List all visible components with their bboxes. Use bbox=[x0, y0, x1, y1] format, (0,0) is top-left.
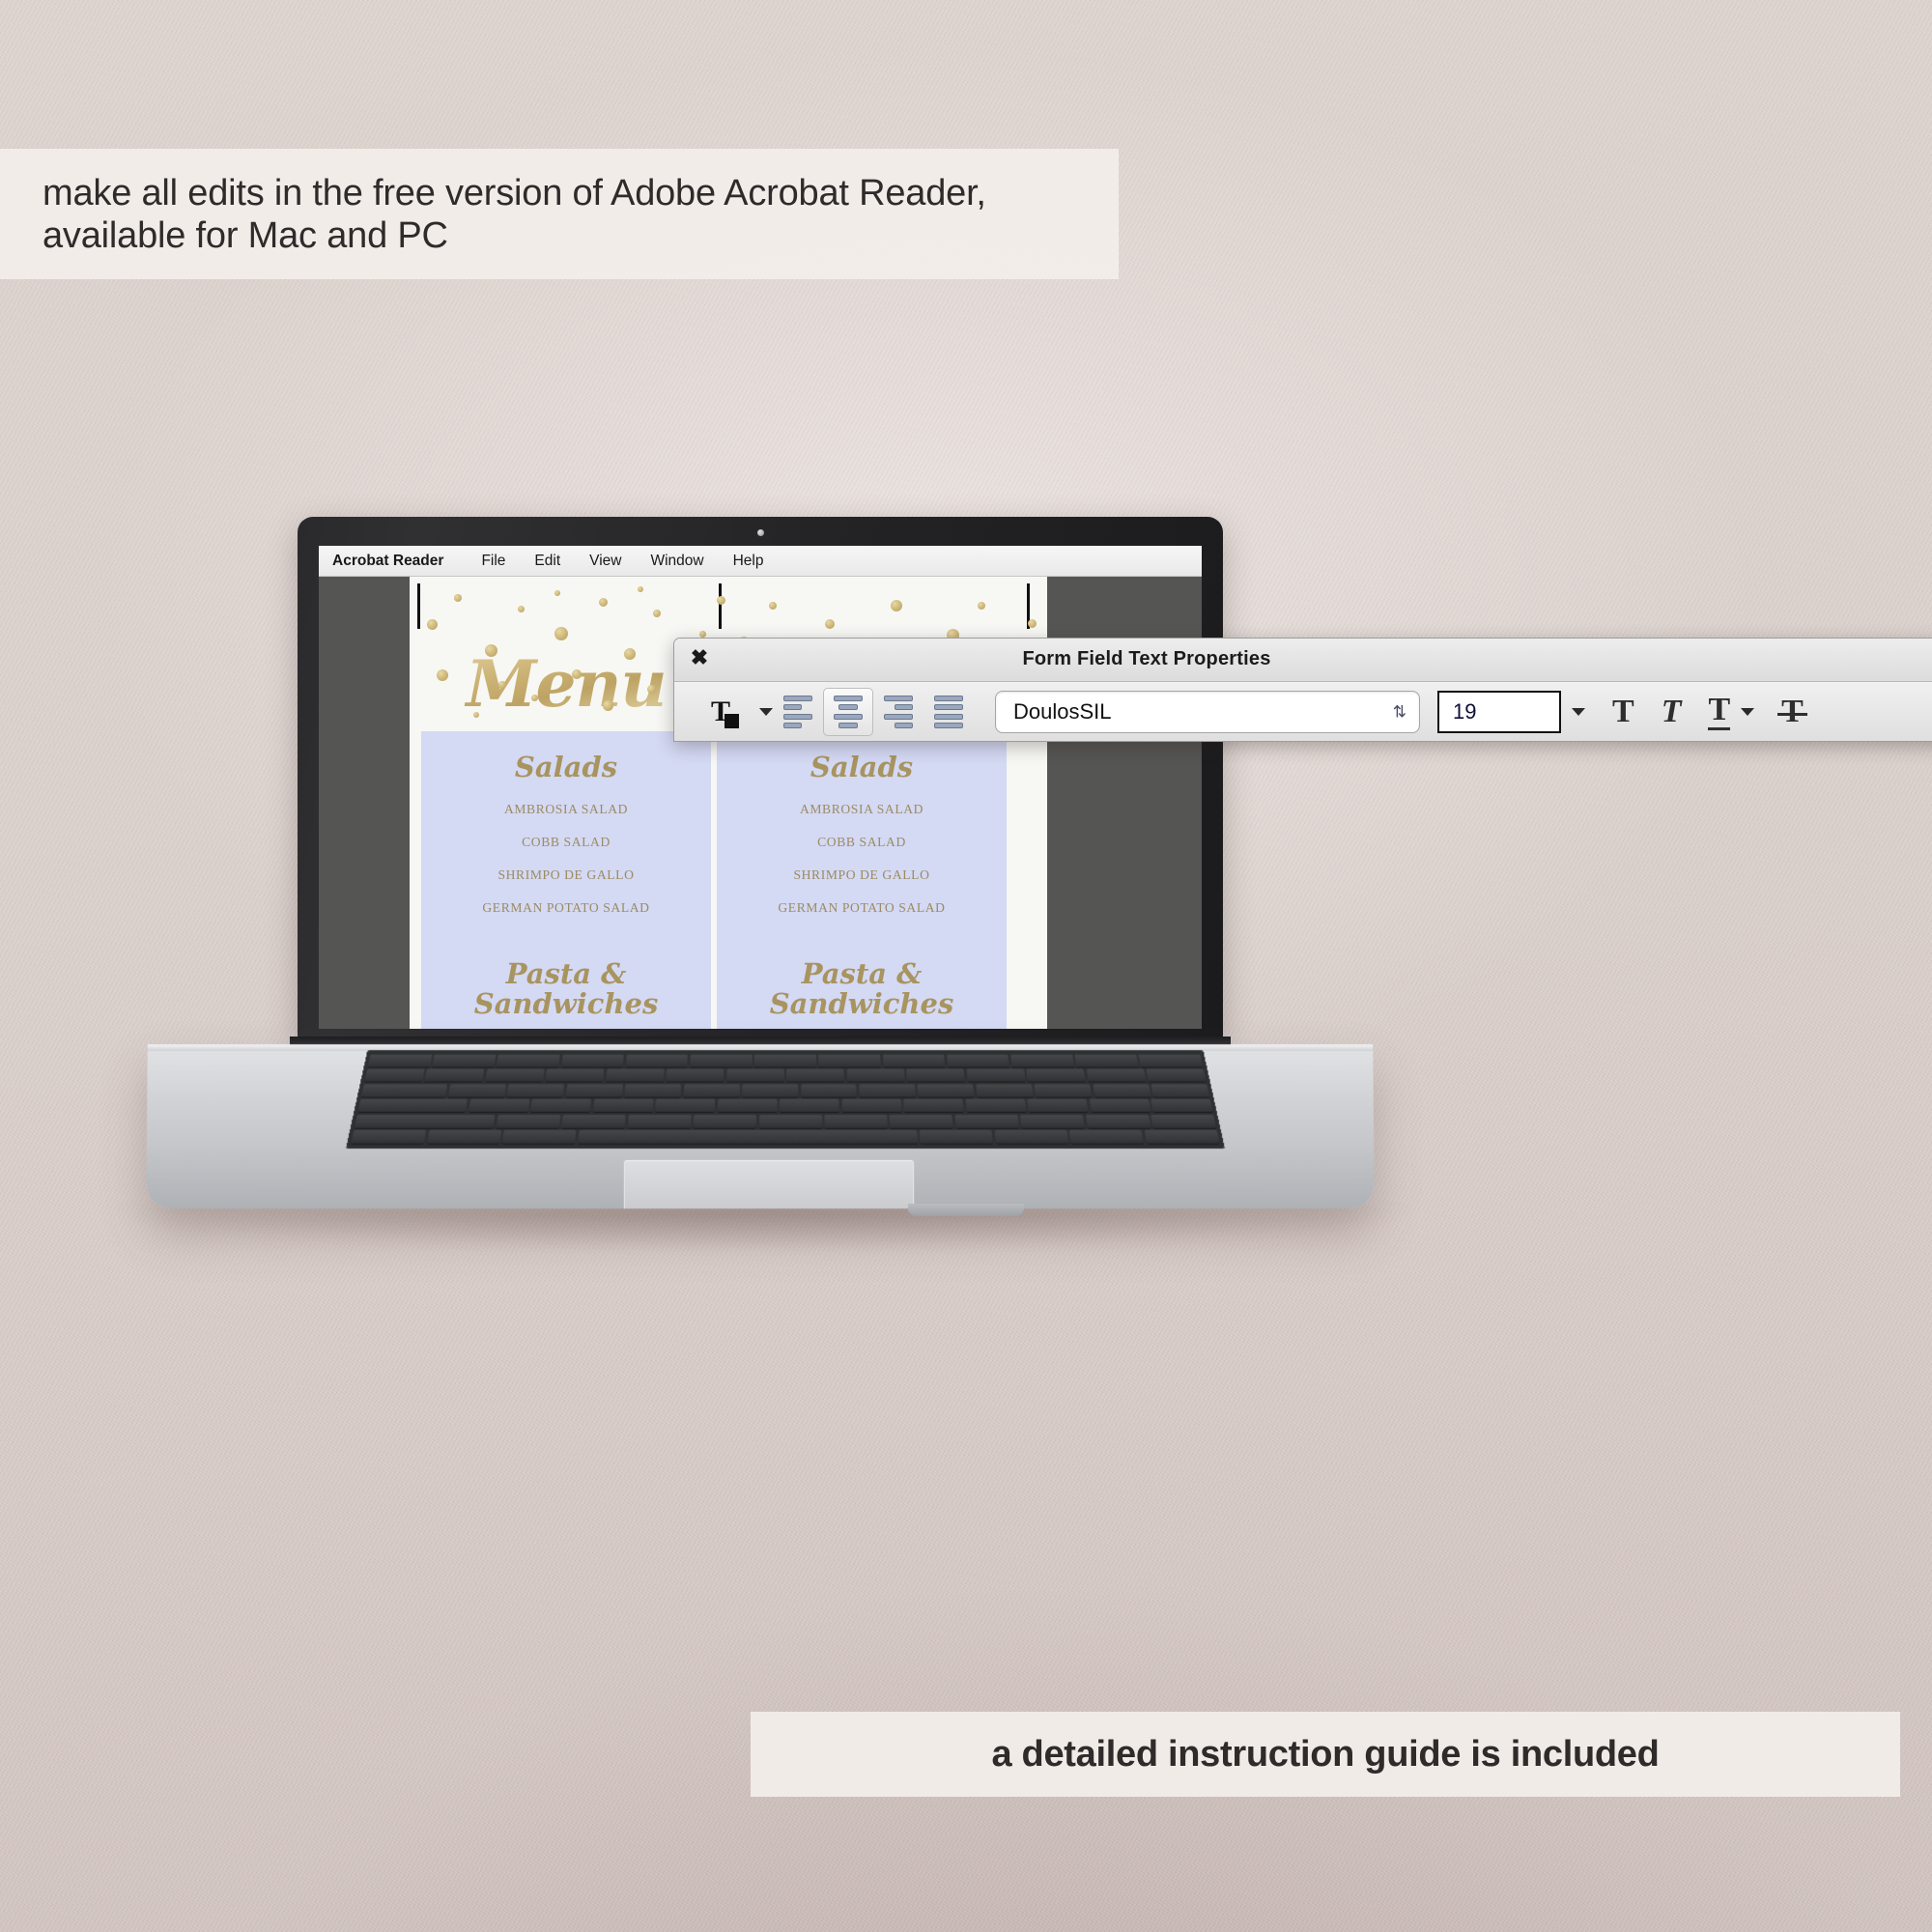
section-heading-pasta: Pasta & Sandwiches bbox=[728, 959, 995, 1018]
underline-button[interactable]: T bbox=[1708, 694, 1730, 730]
menu-panel: Salads AMBROSIA SALAD COBB SALAD SHRIMPO… bbox=[421, 731, 711, 1029]
confetti-dot bbox=[891, 600, 902, 611]
caption-bottom: a detailed instruction guide is included bbox=[751, 1712, 1900, 1797]
keyboard-key[interactable] bbox=[690, 1055, 752, 1067]
keyboard-key[interactable] bbox=[364, 1069, 424, 1082]
confetti-dot bbox=[825, 619, 835, 629]
keyboard[interactable] bbox=[346, 1050, 1225, 1149]
confetti-dot bbox=[624, 648, 636, 660]
keyboard-key[interactable] bbox=[1026, 1069, 1086, 1082]
keyboard-key[interactable] bbox=[1074, 1055, 1138, 1067]
laptop-mockup: Acrobat Reader File Edit View Window Hel… bbox=[0, 0, 1932, 1932]
keyboard-key[interactable] bbox=[1151, 1115, 1216, 1128]
confetti-dot bbox=[653, 610, 661, 617]
caption-top: make all edits in the free version of Ad… bbox=[0, 149, 1119, 279]
keyboard-key[interactable] bbox=[578, 1130, 918, 1144]
confetti-dot bbox=[454, 594, 462, 602]
keyboard-key[interactable] bbox=[1139, 1055, 1204, 1067]
base-notch bbox=[908, 1204, 1024, 1216]
keyboard-key[interactable] bbox=[426, 1130, 501, 1144]
keyboard-key[interactable] bbox=[1093, 1084, 1151, 1096]
keyboard-key[interactable] bbox=[497, 1055, 560, 1067]
keyboard-key[interactable] bbox=[1086, 1069, 1146, 1082]
keyboard-key[interactable] bbox=[717, 1099, 777, 1112]
align-justify-icon bbox=[934, 696, 963, 729]
keyboard-key[interactable] bbox=[561, 1115, 626, 1128]
align-left-button[interactable] bbox=[773, 688, 823, 736]
section-heading-salads: Salads bbox=[433, 753, 699, 781]
section-heading-salads: Salads bbox=[728, 753, 995, 781]
keyboard-key[interactable] bbox=[883, 1055, 946, 1067]
keyboard-row-asdf bbox=[357, 1099, 1212, 1112]
confetti-dot bbox=[572, 669, 582, 679]
keyboard-key[interactable] bbox=[903, 1099, 964, 1112]
confetti-dot bbox=[769, 602, 777, 610]
keyboard-key[interactable] bbox=[780, 1099, 839, 1112]
laptop-base bbox=[146, 1044, 1375, 1208]
keyboard-key[interactable] bbox=[726, 1069, 784, 1082]
menu-item: COBB SALAD bbox=[728, 834, 995, 851]
caption-top-line-2: available for Mac and PC bbox=[43, 214, 1119, 257]
keyboard-key[interactable] bbox=[1086, 1115, 1151, 1128]
confetti-dot bbox=[473, 712, 479, 718]
keyboard-key[interactable] bbox=[1151, 1084, 1209, 1096]
menu-item: GERMAN POTATO SALAD bbox=[728, 899, 995, 917]
keyboard-key[interactable] bbox=[947, 1055, 1009, 1067]
keyboard-row-qwerty bbox=[361, 1084, 1209, 1096]
confetti-dot bbox=[699, 631, 706, 638]
keyboard-key[interactable] bbox=[786, 1069, 844, 1082]
confetti-dot bbox=[717, 596, 725, 605]
keyboard-key[interactable] bbox=[954, 1115, 1019, 1128]
keyboard-key[interactable] bbox=[920, 1130, 993, 1144]
keyboard-key[interactable] bbox=[625, 1055, 688, 1067]
panel-titlebar: ✖ Form Field Text Properties bbox=[674, 639, 1932, 682]
keyboard-key[interactable] bbox=[1034, 1084, 1092, 1096]
font-family-select[interactable]: DoulosSIL ⇅ bbox=[995, 691, 1420, 733]
keyboard-key[interactable] bbox=[1027, 1099, 1089, 1112]
keyboard-key[interactable] bbox=[801, 1084, 857, 1096]
confetti-dot bbox=[554, 590, 560, 596]
keyboard-row-zxcv bbox=[355, 1115, 1216, 1128]
section-heading-pasta: Pasta & Sandwiches bbox=[433, 959, 699, 1018]
keyboard-key[interactable] bbox=[1069, 1130, 1145, 1144]
keyboard-key[interactable] bbox=[561, 1055, 624, 1067]
keyboard-key[interactable] bbox=[1145, 1130, 1220, 1144]
keyboard-key[interactable] bbox=[666, 1069, 724, 1082]
align-center-icon bbox=[834, 696, 863, 729]
keyboard-key[interactable] bbox=[448, 1084, 506, 1096]
text-caret bbox=[719, 583, 722, 629]
form-field-text-properties-panel[interactable]: ✖ Form Field Text Properties T bbox=[673, 638, 1932, 742]
keyboard-key[interactable] bbox=[425, 1069, 485, 1082]
confetti-dot bbox=[498, 681, 506, 689]
keyboard-key[interactable] bbox=[1020, 1115, 1085, 1128]
panel-toolbar[interactable]: T bbox=[674, 682, 1932, 742]
laptop-shadow bbox=[116, 1206, 1410, 1250]
chevron-down-icon[interactable] bbox=[759, 708, 773, 716]
keyboard-key[interactable] bbox=[496, 1115, 560, 1128]
menu-item-file[interactable]: File bbox=[467, 553, 520, 570]
keyboard-key[interactable] bbox=[1089, 1099, 1151, 1112]
confetti-dot bbox=[554, 627, 568, 640]
keyboard-key[interactable] bbox=[357, 1099, 468, 1112]
text-tool-button[interactable]: T bbox=[696, 688, 746, 736]
keyboard-key[interactable] bbox=[818, 1055, 880, 1067]
keyboard-key[interactable] bbox=[906, 1069, 965, 1082]
keyboard-key[interactable] bbox=[628, 1115, 692, 1128]
keyboard-key[interactable] bbox=[846, 1069, 904, 1082]
underline-chevron-down-icon[interactable] bbox=[1741, 708, 1754, 716]
keyboard-key[interactable] bbox=[507, 1084, 565, 1096]
menu-heading: Menu bbox=[421, 652, 711, 722]
confetti-dot bbox=[603, 700, 613, 711]
keyboard-key[interactable] bbox=[890, 1115, 953, 1128]
keyboard-key[interactable] bbox=[624, 1084, 681, 1096]
confetti-dot bbox=[437, 669, 448, 681]
keyboard-key[interactable] bbox=[566, 1084, 623, 1096]
trackpad[interactable] bbox=[624, 1160, 914, 1208]
keyboard-key[interactable] bbox=[994, 1130, 1068, 1144]
keyboard-key[interactable] bbox=[530, 1099, 591, 1112]
keyboard-key[interactable] bbox=[759, 1115, 822, 1128]
keyboard-key[interactable] bbox=[432, 1055, 496, 1067]
keyboard-key[interactable] bbox=[754, 1055, 816, 1067]
keyboard-key[interactable] bbox=[361, 1084, 448, 1096]
keyboard-key[interactable] bbox=[976, 1084, 1034, 1096]
menu-item-help[interactable]: Help bbox=[719, 553, 779, 570]
keyboard-key[interactable] bbox=[485, 1069, 545, 1082]
font-size-value: 19 bbox=[1453, 699, 1476, 724]
keyboard-key[interactable] bbox=[1151, 1099, 1212, 1112]
keyboard-key[interactable] bbox=[468, 1099, 529, 1112]
keyboard-key[interactable] bbox=[742, 1084, 798, 1096]
menu-item: SHRIMPO DE GALLO bbox=[433, 867, 699, 884]
keyboard-key[interactable] bbox=[918, 1084, 975, 1096]
text-caret bbox=[417, 583, 420, 629]
keyboard-key[interactable] bbox=[1146, 1069, 1206, 1082]
keyboard-key[interactable] bbox=[683, 1084, 740, 1096]
font-family-value: DoulosSIL bbox=[1013, 699, 1112, 724]
keyboard-key[interactable] bbox=[841, 1099, 901, 1112]
keyboard-key[interactable] bbox=[824, 1115, 888, 1128]
keyboard-key[interactable] bbox=[694, 1115, 757, 1128]
confetti-dot bbox=[485, 644, 497, 657]
panel-title: Form Field Text Properties bbox=[674, 648, 1932, 670]
menu-item: COBB SALAD bbox=[433, 834, 699, 851]
menu-item: GERMAN POTATO SALAD bbox=[433, 899, 699, 917]
italic-button[interactable]: T bbox=[1662, 696, 1682, 728]
caption-top-line-1: make all edits in the free version of Ad… bbox=[43, 172, 1119, 214]
confetti-dot bbox=[647, 685, 656, 694]
align-left-icon bbox=[783, 696, 812, 729]
strikethrough-button[interactable]: T bbox=[1781, 696, 1804, 728]
menu-item: AMBROSIA SALAD bbox=[433, 801, 699, 818]
laptop-screen: Acrobat Reader File Edit View Window Hel… bbox=[319, 546, 1202, 1029]
keyboard-key[interactable] bbox=[355, 1115, 496, 1128]
menu-item-acrobat-reader[interactable]: Acrobat Reader bbox=[332, 553, 467, 570]
confetti-dot bbox=[978, 602, 985, 610]
keyboard-key[interactable] bbox=[965, 1099, 1026, 1112]
keyboard-key[interactable] bbox=[859, 1084, 916, 1096]
keyboard-key[interactable] bbox=[1010, 1055, 1074, 1067]
stepper-icon[interactable]: ⇅ bbox=[1393, 704, 1406, 719]
screenshot-canvas: Acrobat Reader File Edit View Window Hel… bbox=[0, 0, 1932, 1932]
keyboard-row-numbers bbox=[364, 1069, 1206, 1082]
acrobat-menubar[interactable]: Acrobat Reader File Edit View Window Hel… bbox=[319, 546, 1202, 577]
confetti-dot bbox=[638, 586, 643, 592]
keyboard-key[interactable] bbox=[546, 1069, 605, 1082]
menu-item-window[interactable]: Window bbox=[636, 553, 718, 570]
keyboard-row-modifiers bbox=[351, 1130, 1219, 1144]
align-center-button[interactable] bbox=[823, 688, 873, 736]
bold-button[interactable]: T bbox=[1612, 696, 1634, 728]
align-justify-button[interactable] bbox=[923, 688, 974, 736]
menu-panel: Salads AMBROSIA SALAD COBB SALAD SHRIMPO… bbox=[717, 731, 1007, 1029]
font-size-input[interactable]: 19 bbox=[1437, 691, 1561, 733]
menu-item-edit[interactable]: Edit bbox=[520, 553, 575, 570]
keyboard-key[interactable] bbox=[966, 1069, 1025, 1082]
keyboard-key[interactable] bbox=[606, 1069, 665, 1082]
menu-column-left: Menu Salads AMBROSIA SALAD COBB SALAD SH… bbox=[421, 652, 711, 1029]
keyboard-key[interactable] bbox=[351, 1130, 426, 1144]
align-right-icon bbox=[884, 696, 913, 729]
confetti-dot bbox=[1028, 619, 1037, 628]
confetti-dot bbox=[518, 606, 525, 612]
keyboard-key[interactable] bbox=[368, 1055, 433, 1067]
keyboard-row-function bbox=[368, 1055, 1204, 1067]
confetti-dot bbox=[531, 695, 538, 701]
confetti-dot bbox=[599, 598, 608, 607]
keyboard-key[interactable] bbox=[502, 1130, 577, 1144]
text-tool-icon: T bbox=[711, 696, 730, 728]
font-size-chevron-down-icon[interactable] bbox=[1572, 708, 1585, 716]
laptop-lid: Acrobat Reader File Edit View Window Hel… bbox=[298, 517, 1223, 1038]
confetti-dot bbox=[427, 619, 438, 630]
align-right-button[interactable] bbox=[873, 688, 923, 736]
keyboard-key[interactable] bbox=[655, 1099, 715, 1112]
menu-item: AMBROSIA SALAD bbox=[728, 801, 995, 818]
webcam-icon bbox=[757, 529, 764, 536]
keyboard-key[interactable] bbox=[592, 1099, 653, 1112]
menu-item: SHRIMPO DE GALLO bbox=[728, 867, 995, 884]
menu-item-view[interactable]: View bbox=[575, 553, 636, 570]
